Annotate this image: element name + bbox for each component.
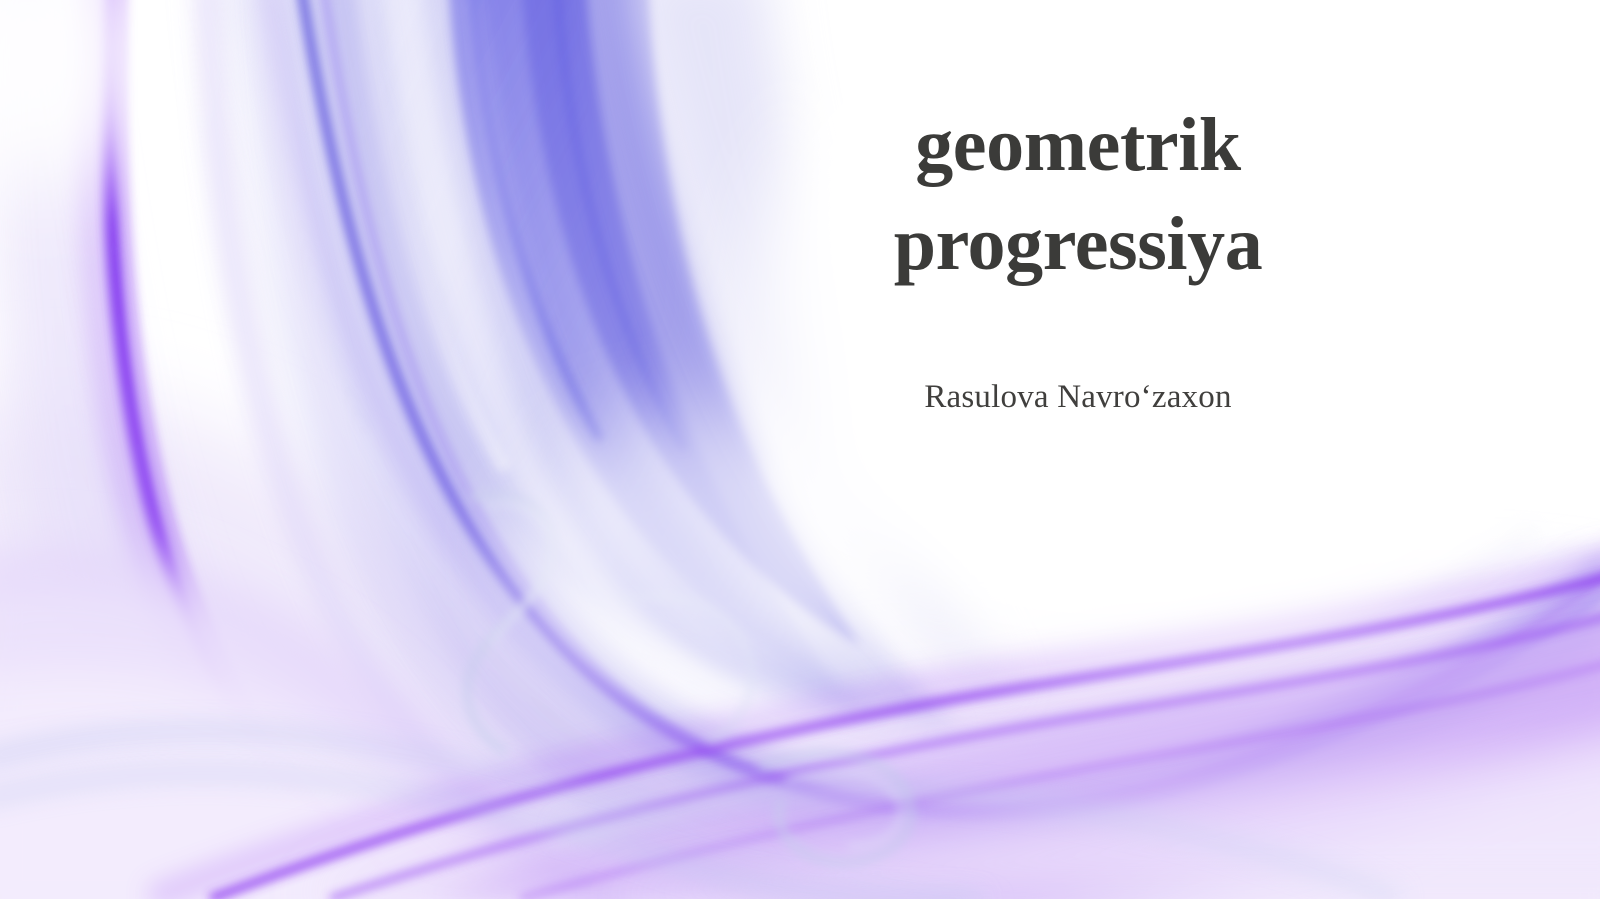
page-title: geometrikprogressiya — [808, 96, 1348, 294]
author-subtitle: Rasulova Navro‘zaxon — [808, 378, 1348, 418]
abstract-waves-background-image — [0, 0, 1600, 899]
title-text-block: geometrikprogressiya Rasulova Navro‘zaxo… — [808, 96, 1348, 417]
page-title-line-1: geometrik — [915, 103, 1241, 187]
title-slide: geometrikprogressiya Rasulova Navro‘zaxo… — [0, 0, 1600, 899]
page-title-line-2: progressiya — [894, 202, 1263, 286]
